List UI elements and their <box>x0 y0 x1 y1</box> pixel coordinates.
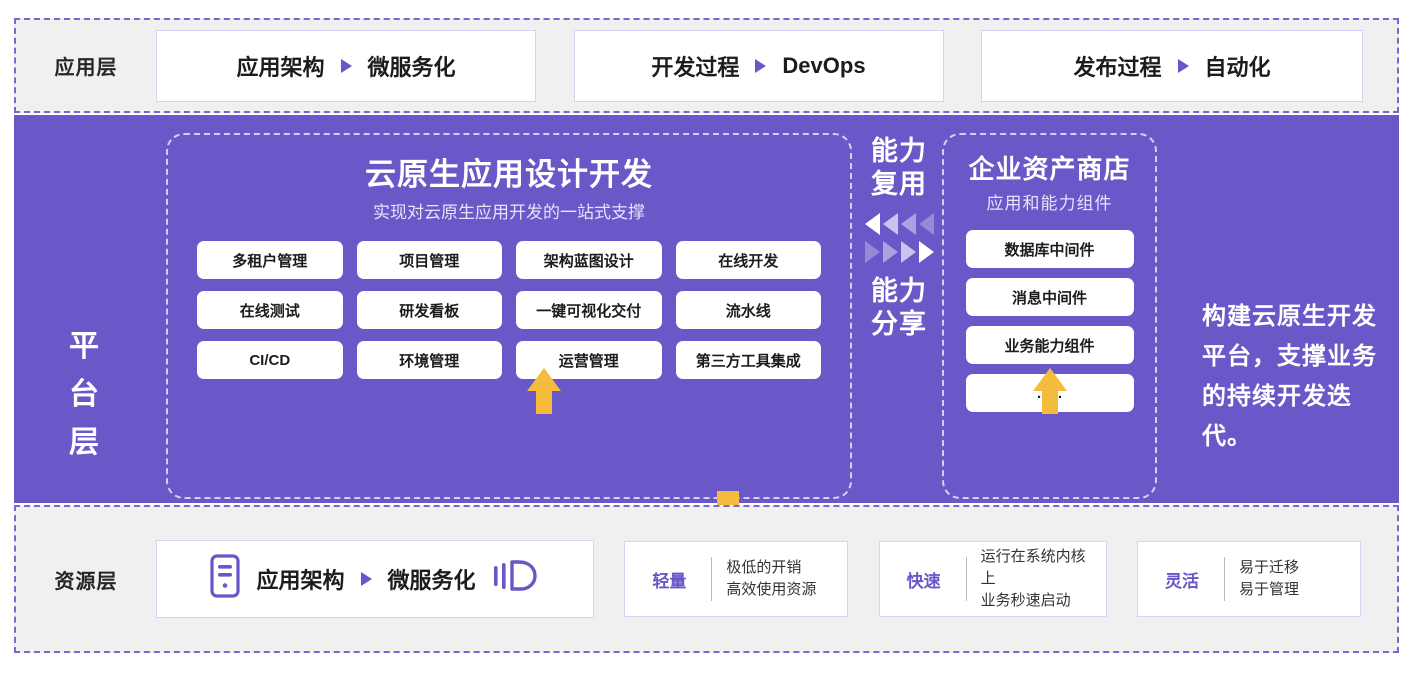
platform-slogan: 构建云原生开发平台，支撑业务的持续开发迭代。 <box>1202 297 1377 457</box>
platform-label-char: 层 <box>62 419 108 467</box>
platform-layer-label: 平 台 层 <box>62 323 108 467</box>
feature-description: 运行在系统内核上 业务秒速启动 <box>981 546 1090 612</box>
feature-line: 运行在系统内核上 <box>981 546 1090 590</box>
feature-key: 轻量 <box>641 567 697 592</box>
capability-exchange-column: 能力 复用 能力 分享 <box>859 135 939 341</box>
app-card-left-label: 应用架构 <box>236 50 324 82</box>
feature-divider <box>711 557 712 601</box>
asset-chip[interactable]: 数据库中间件 <box>966 230 1134 268</box>
triangle-left-icon <box>865 213 880 235</box>
feature-line: 高效使用资源 <box>726 579 816 601</box>
capability-share-line: 能力 <box>859 275 939 308</box>
triangle-right-icon <box>901 241 916 263</box>
app-card-right-label: 自动化 <box>1205 50 1271 82</box>
triangle-left-icon <box>883 213 898 235</box>
resource-layer-cards: 应用架构 微服务化 轻量 极低的开销 高效使用资源 <box>156 540 1397 618</box>
triangle-right-icon <box>1178 59 1189 73</box>
feature-key: 快速 <box>896 567 952 592</box>
feature-description: 易于迁移 易于管理 <box>1239 557 1299 601</box>
app-card-right-label: 微服务化 <box>368 50 456 82</box>
triangle-right-icon <box>361 572 372 586</box>
app-card-left-label: 开发过程 <box>651 50 739 82</box>
feature-line: 易于管理 <box>1239 579 1299 601</box>
dev-panel-title: 云原生应用设计开发 <box>168 149 850 194</box>
feature-divider <box>966 557 967 601</box>
dev-chip[interactable]: 流水线 <box>676 291 822 329</box>
dev-chip[interactable]: CI/CD <box>197 341 343 379</box>
resource-card-left-label: 应用架构 <box>256 563 344 595</box>
application-layer-cards: 应用架构 微服务化 开发过程 DevOps 发布过程 自动化 <box>156 30 1397 102</box>
arrow-up-to-dev-panel-icon <box>527 368 561 414</box>
triangle-right-icon <box>755 59 766 73</box>
triangle-right-icon <box>883 241 898 263</box>
dev-chip[interactable]: 项目管理 <box>357 241 503 279</box>
feature-card-fast[interactable]: 快速 运行在系统内核上 业务秒速启动 <box>879 541 1107 617</box>
feature-line: 易于迁移 <box>1239 557 1299 579</box>
capability-share-label: 能力 分享 <box>859 275 939 341</box>
app-card-application-architecture[interactable]: 应用架构 微服务化 <box>156 30 536 102</box>
capability-reuse-line: 能力 <box>859 135 939 168</box>
feature-divider <box>1224 557 1225 601</box>
feature-key: 灵活 <box>1154 567 1210 592</box>
architecture-diagram: 应用层 应用架构 微服务化 开发过程 DevOps 发布过程 自动化 平 台 <box>0 0 1413 673</box>
dev-chip[interactable]: 在线开发 <box>676 241 822 279</box>
asset-panel-subtitle: 应用和能力组件 <box>944 189 1155 214</box>
feature-card-flexible[interactable]: 灵活 易于迁移 易于管理 <box>1137 541 1361 617</box>
capability-reuse-label: 能力 复用 <box>859 135 939 201</box>
dev-chip[interactable]: 多租户管理 <box>197 241 343 279</box>
triangle-right-icon <box>341 59 352 73</box>
capability-reuse-line: 复用 <box>859 168 939 201</box>
resource-main-card[interactable]: 应用架构 微服务化 <box>156 540 594 618</box>
left-arrow-group <box>859 213 939 235</box>
application-layer: 应用层 应用架构 微服务化 开发过程 DevOps 发布过程 自动化 <box>14 18 1399 113</box>
app-card-development-process[interactable]: 开发过程 DevOps <box>574 30 944 102</box>
app-card-left-label: 发布过程 <box>1073 50 1161 82</box>
feature-description: 极低的开销 高效使用资源 <box>726 557 816 601</box>
dev-chip[interactable]: 在线测试 <box>197 291 343 329</box>
triangle-right-icon <box>865 241 880 263</box>
asset-chip[interactable]: 消息中间件 <box>966 278 1134 316</box>
dev-panel-subtitle: 实现对云原生应用开发的一站式支撑 <box>168 198 850 223</box>
platform-label-char: 台 <box>62 371 108 419</box>
arrow-up-to-asset-panel-icon <box>1033 368 1067 414</box>
dev-panel-grid: 多租户管理 项目管理 架构蓝图设计 在线开发 在线测试 研发看板 一键可视化交付… <box>197 241 821 379</box>
asset-chip[interactable]: 业务能力组件 <box>966 326 1134 364</box>
dev-chip[interactable]: 架构蓝图设计 <box>516 241 662 279</box>
right-arrow-group <box>859 241 939 263</box>
dev-chip[interactable]: 一键可视化交付 <box>516 291 662 329</box>
asset-panel-title: 企业资产商店 <box>944 149 1155 186</box>
cloud-icon <box>492 557 540 601</box>
resource-layer: 资源层 应用架构 微服务化 <box>14 505 1399 653</box>
resource-layer-label: 资源层 <box>16 565 156 594</box>
dev-chip[interactable]: 第三方工具集成 <box>676 341 822 379</box>
enterprise-asset-store-panel: 企业资产商店 应用和能力组件 数据库中间件 消息中间件 业务能力组件 .....… <box>942 133 1157 499</box>
platform-label-char: 平 <box>62 323 108 371</box>
feature-line: 业务秒速启动 <box>981 590 1090 612</box>
app-card-release-process[interactable]: 发布过程 自动化 <box>981 30 1363 102</box>
cloud-native-dev-panel: 云原生应用设计开发 实现对云原生应用开发的一站式支撑 多租户管理 项目管理 架构… <box>166 133 852 499</box>
dev-chip[interactable]: 环境管理 <box>357 341 503 379</box>
triangle-left-icon <box>901 213 916 235</box>
server-icon <box>210 554 240 604</box>
feature-line: 极低的开销 <box>726 557 816 579</box>
triangle-left-icon <box>919 213 934 235</box>
application-layer-label: 应用层 <box>16 51 156 80</box>
feature-card-lightweight[interactable]: 轻量 极低的开销 高效使用资源 <box>624 541 848 617</box>
resource-card-right-label: 微服务化 <box>388 563 476 595</box>
platform-layer: 平 台 层 云原生应用设计开发 实现对云原生应用开发的一站式支撑 多租户管理 项… <box>14 115 1399 503</box>
triangle-right-icon <box>919 241 934 263</box>
app-card-right-label: DevOps <box>782 53 865 79</box>
capability-share-line: 分享 <box>859 308 939 341</box>
dev-chip[interactable]: 研发看板 <box>357 291 503 329</box>
